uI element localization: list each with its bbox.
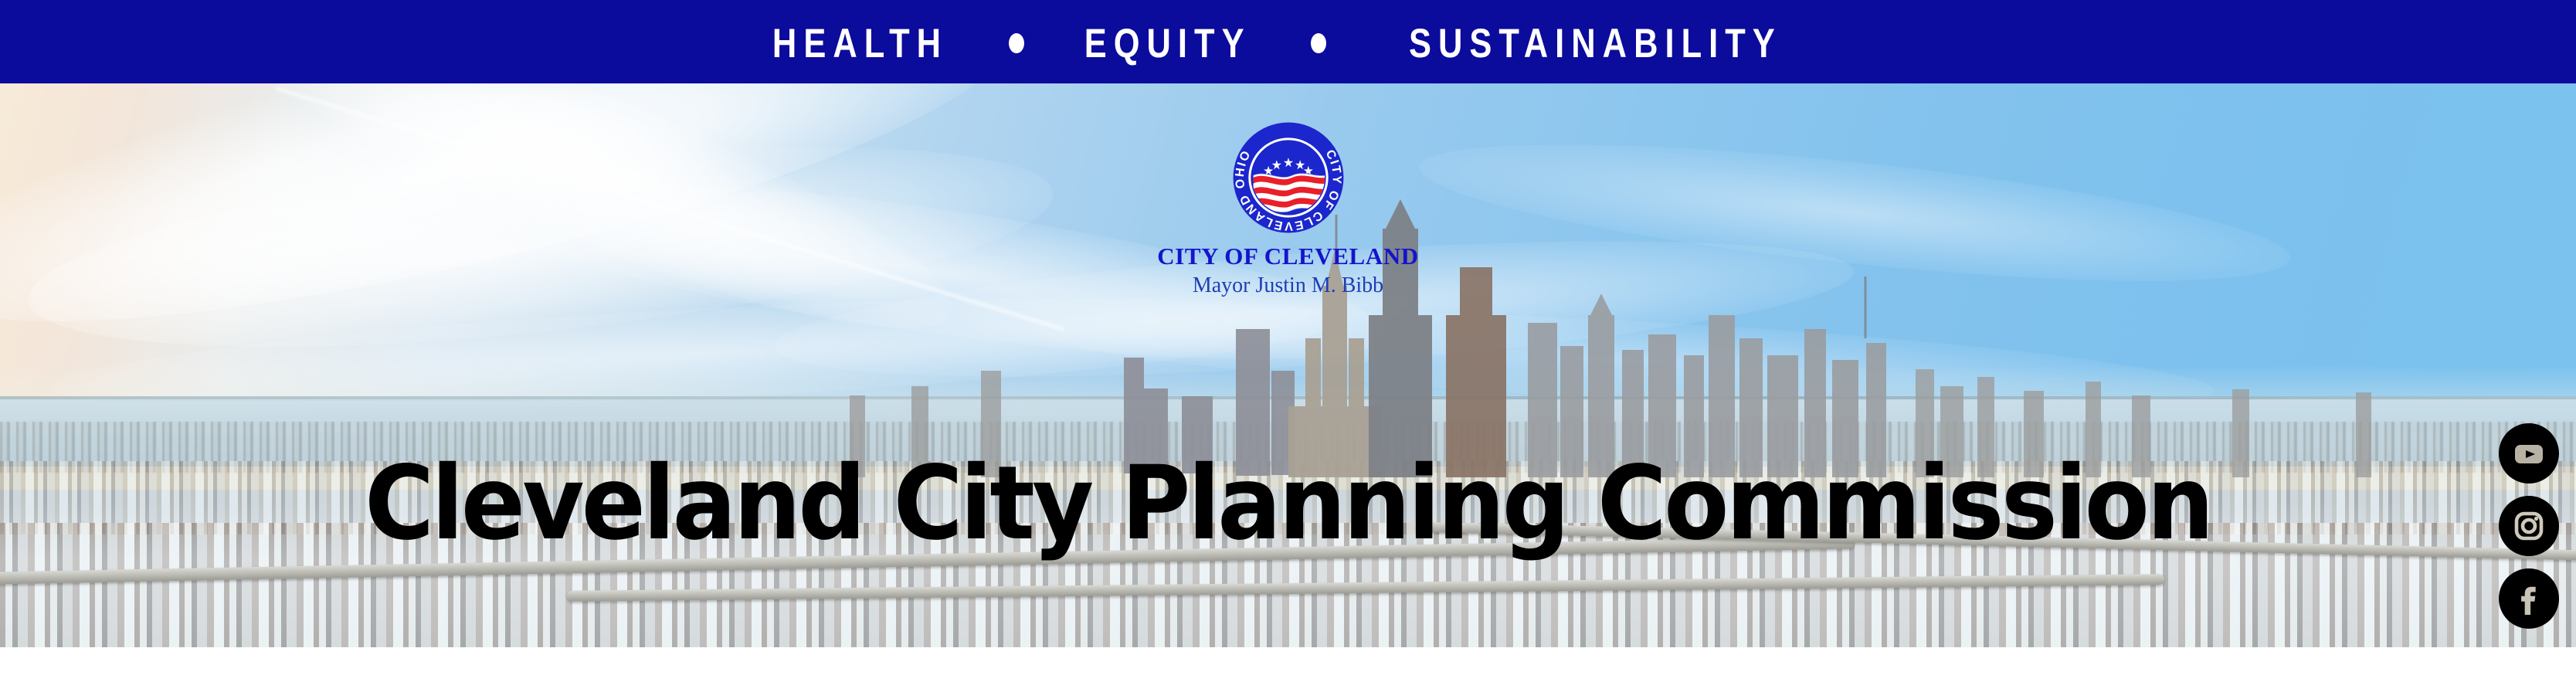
city-of-cleveland-logo: CITY OF CLEVELAND OHIO: [1126, 119, 1451, 297]
tagline-word-health: HEALTH: [772, 23, 948, 64]
tagline-inner: HEALTH EQUITY SUSTAINABILITY: [753, 23, 1823, 64]
tagline-separator-dot-1: [1009, 33, 1024, 53]
facebook-icon[interactable]: [2499, 568, 2559, 629]
instagram-icon[interactable]: [2499, 496, 2559, 556]
page-title: Cleveland City Planning Commission: [90, 453, 2486, 555]
logo-title: CITY OF CLEVELAND: [1157, 244, 1419, 268]
social-media-rail: [2499, 423, 2559, 629]
tagline-separator-dot-2: [1311, 33, 1326, 53]
logo-subtitle: Mayor Justin M. Bibb: [1193, 275, 1383, 297]
instagram-glyph: [2510, 507, 2548, 545]
city-seal-icon: CITY OF CLEVELAND OHIO: [1230, 119, 1347, 236]
bottom-white-strip: [0, 647, 2576, 682]
hero-photo: CITY OF CLEVELAND OHIO: [0, 83, 2576, 647]
tagline-word-sustainability: SUSTAINABILITY: [1409, 23, 1782, 64]
facebook-glyph: [2510, 579, 2548, 618]
youtube-glyph: [2510, 434, 2548, 473]
tagline-word-equity: EQUITY: [1084, 23, 1251, 64]
youtube-icon[interactable]: [2499, 423, 2559, 484]
tagline-banner: HEALTH EQUITY SUSTAINABILITY: [0, 0, 2576, 83]
